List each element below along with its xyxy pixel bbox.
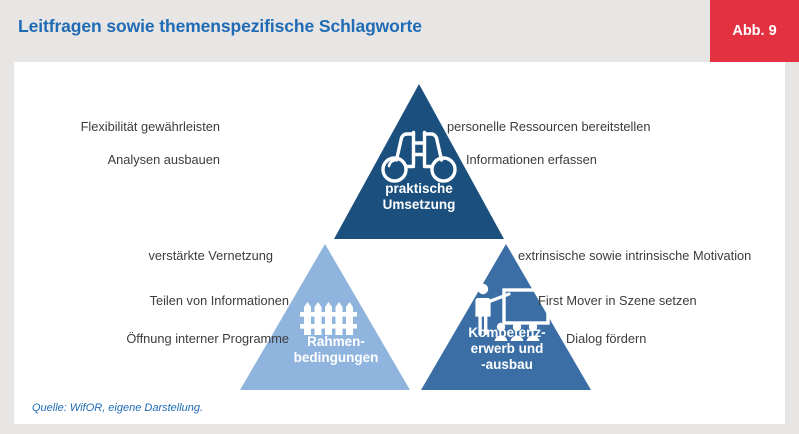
keyword-bottom-right-2: First Mover in Szene setzen — [538, 293, 697, 308]
keyword-bottom-left-1: verstärkte Vernetzung — [149, 248, 273, 263]
keyword-bottom-left-3: Öffnung interner Programme — [126, 331, 289, 346]
keyword-bottom-right-3: Dialog fördern — [566, 331, 646, 346]
source-note: Quelle: WifOR, eigene Darstellung. — [32, 402, 203, 414]
figure-header: Leitfragen sowie themenspezifische Schla… — [0, 0, 799, 62]
figure-number-badge: Abb. 9 — [710, 0, 799, 62]
figure-number-label: Abb. 9 — [710, 0, 799, 62]
keyword-bottom-right-1: extrinsische sowie intrinsische Motivati… — [518, 248, 751, 263]
keyword-top-left-2: Analysen ausbauen — [108, 152, 220, 167]
keyword-top-right-2: Informationen erfassen — [466, 152, 597, 167]
segment-rahmenbedingungen[interactable] — [240, 244, 410, 390]
fence-icon — [300, 302, 357, 335]
keyword-top-right-1: personelle Ressourcen bereitstellen — [447, 119, 650, 134]
page-title: Leitfragen sowie themenspezifische Schla… — [18, 16, 422, 37]
keyword-top-left-1: Flexibilität gewährleisten — [81, 119, 220, 134]
triangle-diagram: praktische Umsetzung Rahmen- bedingungen… — [14, 62, 785, 424]
content-panel: praktische Umsetzung Rahmen- bedingungen… — [14, 62, 785, 424]
figure-root: Leitfragen sowie themenspezifische Schla… — [0, 0, 799, 434]
keyword-bottom-left-2: Teilen von Informationen — [150, 293, 289, 308]
segment-label-kompetenzerwerb: Kompetenz- erwerb und -ausbau — [437, 325, 577, 373]
segment-label-praktische-umsetzung: praktische Umsetzung — [354, 181, 484, 213]
